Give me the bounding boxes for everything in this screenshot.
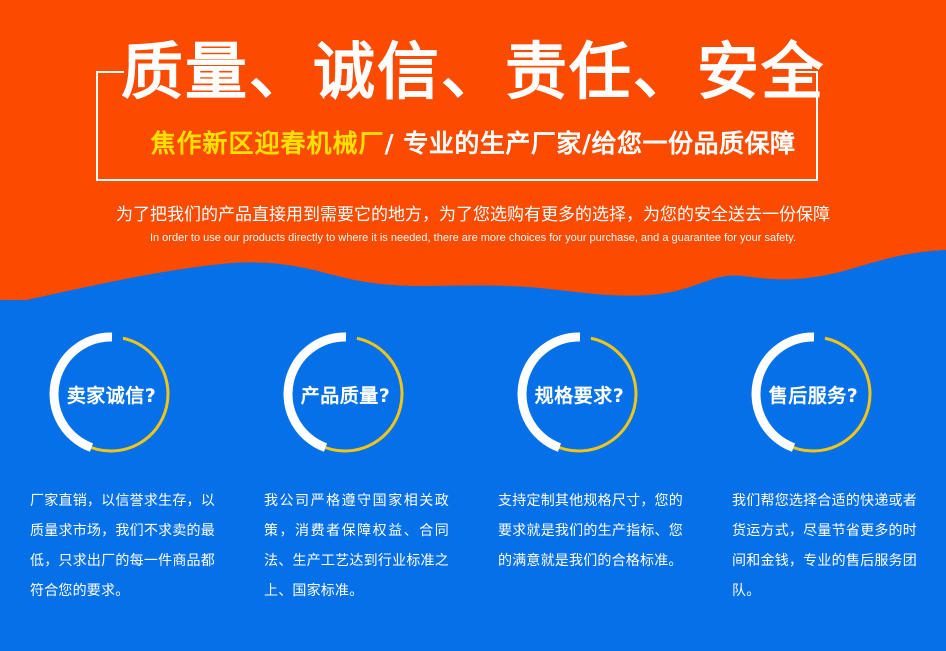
- feature-item-seller-integrity: 卖家诚信? 厂家直销，以信誉求生存，以质量求市场，我们不求卖的最低，只求出厂的每…: [30, 330, 244, 630]
- promo-banner-stage: 质量、诚信、责任、安全 焦作新区迎春机械厂/ 专业的生产厂家/给您一份品质保障 …: [0, 0, 946, 651]
- feature-list: 卖家诚信? 厂家直销，以信誉求生存，以质量求市场，我们不求卖的最低，只求出厂的每…: [0, 330, 946, 630]
- ring-label-3: 规格要求?: [512, 330, 647, 458]
- feature-item-spec-requirements: 规格要求? 支持定制其他规格尺寸，您的要求就是我们的生产指标、您的满意就是我们的…: [498, 330, 712, 630]
- tagline-chinese: 为了把我们的产品直接用到需要它的地方，为了您选购有更多的选择，为您的安全送去一份…: [0, 203, 946, 227]
- subheadline: 焦作新区迎春机械厂/ 专业的生产厂家/给您一份品质保障: [0, 128, 946, 160]
- feature-description-2: 我公司严格遵守国家相关政策，消费者保障权益、合同法、生产工艺达到行业标准之上、国…: [264, 486, 449, 606]
- subheadline-brand: 焦作新区迎春机械厂: [151, 129, 385, 158]
- ring-graphic-4: 售后服务?: [746, 330, 881, 458]
- feature-description-4: 我们帮您选择合适的快递或者货运方式，尽量节省更多的时间和金钱，专业的售后服务团队…: [732, 486, 917, 606]
- bracket-bottom: [96, 179, 818, 181]
- subheadline-rest: / 专业的生产厂家/给您一份品质保障: [385, 129, 796, 158]
- ring-graphic-2: 产品质量?: [278, 330, 413, 458]
- tagline-english: In order to use our products directly to…: [0, 230, 946, 246]
- feature-item-product-quality: 产品质量? 我公司严格遵守国家相关政策，消费者保障权益、合同法、生产工艺达到行业…: [264, 330, 478, 630]
- ring-graphic-3: 规格要求?: [512, 330, 647, 458]
- wave-divider: [0, 250, 946, 320]
- feature-description-3: 支持定制其他规格尺寸，您的要求就是我们的生产指标、您的满意就是我们的合格标准。: [498, 486, 683, 576]
- ring-label-2: 产品质量?: [278, 330, 413, 458]
- headline: 质量、诚信、责任、安全: [0, 36, 946, 108]
- feature-description-1: 厂家直销，以信誉求生存，以质量求市场，我们不求卖的最低，只求出厂的每一件商品都符…: [30, 486, 215, 606]
- ring-graphic-1: 卖家诚信?: [44, 330, 179, 458]
- ring-label-4: 售后服务?: [746, 330, 881, 458]
- ring-label-1: 卖家诚信?: [44, 330, 179, 458]
- feature-item-after-sales: 售后服务? 我们帮您选择合适的快递或者货运方式，尽量节省更多的时间和金钱，专业的…: [732, 330, 946, 630]
